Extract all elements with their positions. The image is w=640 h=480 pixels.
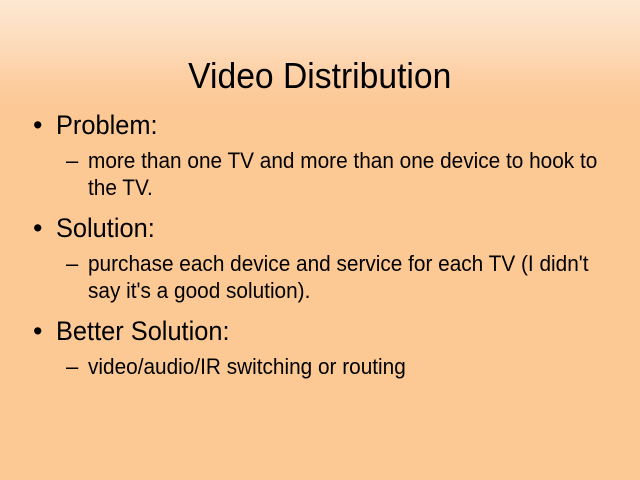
bullet-level2-solution: – purchase each device and service for e… — [30, 250, 620, 304]
bullet-group-problem: • Problem: – more than one TV and more t… — [30, 108, 620, 201]
bullet-group-better-solution: • Better Solution: – video/audio/IR swit… — [30, 314, 620, 380]
bullet-level2-label: video/audio/IR switching or routing — [88, 353, 620, 380]
bullet-level1-label: Problem: — [56, 108, 158, 142]
bullet-dash-icon: – — [66, 353, 78, 380]
slide-body: • Problem: – more than one TV and more t… — [30, 108, 620, 380]
bullet-level1-solution: • Solution: — [30, 211, 620, 245]
page-title: Video Distribution — [188, 54, 451, 98]
bullet-group-solution: • Solution: – purchase each device and s… — [30, 211, 620, 304]
bullet-level1-label: Better Solution: — [56, 314, 230, 348]
bullet-level2-label: purchase each device and service for eac… — [88, 250, 620, 304]
bullet-level2-better-solution: – video/audio/IR switching or routing — [30, 353, 620, 380]
bullet-level1-better-solution: • Better Solution: — [30, 314, 620, 348]
spacer — [30, 201, 620, 211]
bullet-level1-problem: • Problem: — [30, 108, 620, 142]
bullet-level2-problem: – more than one TV and more than one dev… — [30, 147, 620, 201]
bullet-dot-icon: • — [33, 314, 53, 348]
spacer — [30, 304, 620, 314]
presentation-slide: Video Distribution • Problem: – more tha… — [0, 0, 640, 480]
bullet-dash-icon: – — [66, 147, 78, 174]
bullet-dot-icon: • — [33, 108, 53, 142]
bullet-dot-icon: • — [33, 211, 53, 245]
bullet-dash-icon: – — [66, 250, 78, 277]
bullet-level1-label: Solution: — [56, 211, 155, 245]
bullet-level2-label: more than one TV and more than one devic… — [88, 147, 620, 201]
